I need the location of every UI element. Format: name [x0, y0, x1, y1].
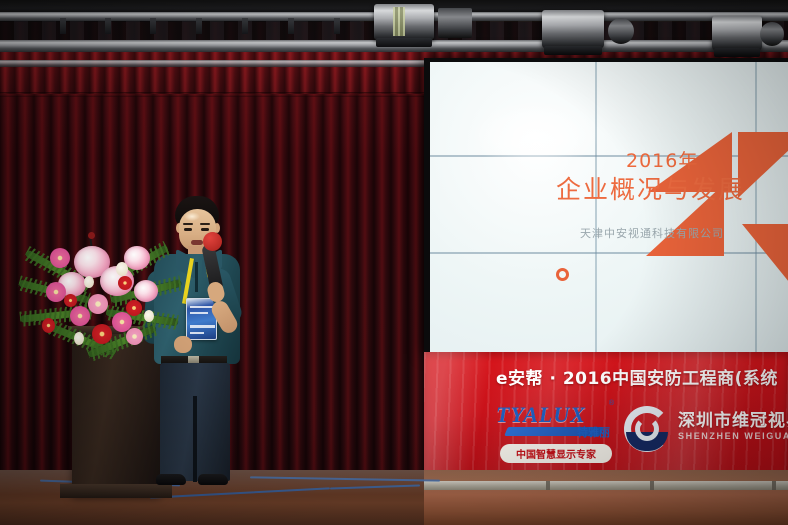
floral-arrangement: [28, 232, 178, 368]
stage-light-lens: [393, 7, 405, 36]
stage-photo-scene: 2016年 企业概况与发展 天津中安视通科技有限公司 e安帮 · 2016中国安…: [0, 0, 788, 525]
tyalux-tagline-pill: 中国智慧显示专家: [500, 444, 612, 463]
hexagon-accent-icon: [556, 268, 569, 281]
stage-light-base: [544, 46, 601, 55]
stage-light-yoke: [608, 18, 634, 44]
gerbera-bloom: [42, 318, 55, 333]
stage-light-4: [712, 16, 762, 50]
gerbera-bloom: [126, 300, 142, 316]
truss-clamp: [105, 18, 111, 34]
lily-bloom: [124, 246, 150, 270]
tyalux-tagline: 中国智慧显示专家: [516, 446, 596, 461]
white-bud: [74, 332, 84, 345]
weiguan-logo: 深圳市维冠视界科 SHENZHEN WEIGUAN VIEWS: [624, 404, 788, 466]
stage-light-3: [542, 10, 604, 48]
gerbera-bloom: [118, 276, 132, 290]
stage-edge-trim: [424, 481, 788, 490]
gerbera-bloom: [50, 248, 70, 268]
stage-light-1: [374, 4, 434, 40]
banner-headline: e安帮 · 2016中国安防工程商(系统: [496, 364, 778, 389]
lily-bloom: [134, 280, 158, 302]
stage-edge-gap: [650, 481, 654, 490]
presenter-brow: [200, 223, 210, 225]
presenter-eye: [201, 228, 209, 231]
weiguan-english-name: SHENZHEN WEIGUAN VIEWS: [678, 431, 788, 441]
slide-company-name: 天津中安视通科技有限公司: [580, 225, 724, 241]
presenter-mouth: [191, 240, 203, 245]
stage-edge-gap: [546, 481, 550, 490]
stage-light-2: [438, 8, 472, 38]
truss-clamp: [334, 18, 340, 34]
slide-year: 2016年: [626, 146, 698, 173]
truss-clamp: [288, 18, 294, 34]
event-backdrop-banner: e安帮 · 2016中国安防工程商(系统 TYALUX ® 特雅丽 中国智慧显示…: [424, 352, 788, 483]
truss-clamp: [242, 18, 248, 34]
stage-light-yoke: [760, 22, 784, 46]
gerbera-bloom: [126, 328, 143, 345]
presenter-shirt-placket: [195, 262, 198, 292]
gerbera-bloom: [88, 294, 108, 314]
presenter-eye: [184, 228, 192, 231]
panel-seam-vertical: [595, 62, 597, 352]
stage-edge-gap: [772, 481, 776, 490]
presenter-leg-gap: [193, 396, 197, 482]
presenter-brow: [183, 223, 193, 225]
microphone-windscreen-icon: [203, 232, 222, 251]
slide-title: 企业概况与发展: [556, 170, 745, 206]
stage-light-base: [376, 38, 431, 47]
tyalux-chinese-name: 特雅丽: [577, 424, 610, 440]
stage-light-base: [714, 48, 760, 57]
presenter-face-highlight: [184, 212, 200, 221]
white-bud: [144, 310, 154, 322]
white-bud: [116, 262, 128, 276]
presenter-shoe: [198, 474, 228, 485]
gerbera-bloom: [64, 294, 77, 307]
weiguan-chinese-name: 深圳市维冠视界科: [678, 406, 788, 431]
presenter-shoe: [156, 474, 186, 485]
weiguan-mark-icon: [624, 406, 670, 452]
white-bud: [84, 276, 94, 288]
gerbera-bloom: [70, 306, 90, 326]
registered-mark-icon: ®: [609, 400, 614, 407]
gerbera-bloom: [46, 282, 66, 302]
led-video-wall: 2016年 企业概况与发展 天津中安视通科技有限公司: [430, 62, 788, 352]
truss-clamp: [196, 18, 202, 34]
screen-glare: [470, 100, 600, 170]
tyalux-logo: TYALUX ® 特雅丽 中国智慧显示专家: [496, 398, 616, 468]
truss-clamp: [150, 18, 156, 34]
lectern-base: [60, 484, 172, 498]
truss-clamp: [60, 18, 66, 34]
gerbera-bloom: [92, 324, 112, 344]
